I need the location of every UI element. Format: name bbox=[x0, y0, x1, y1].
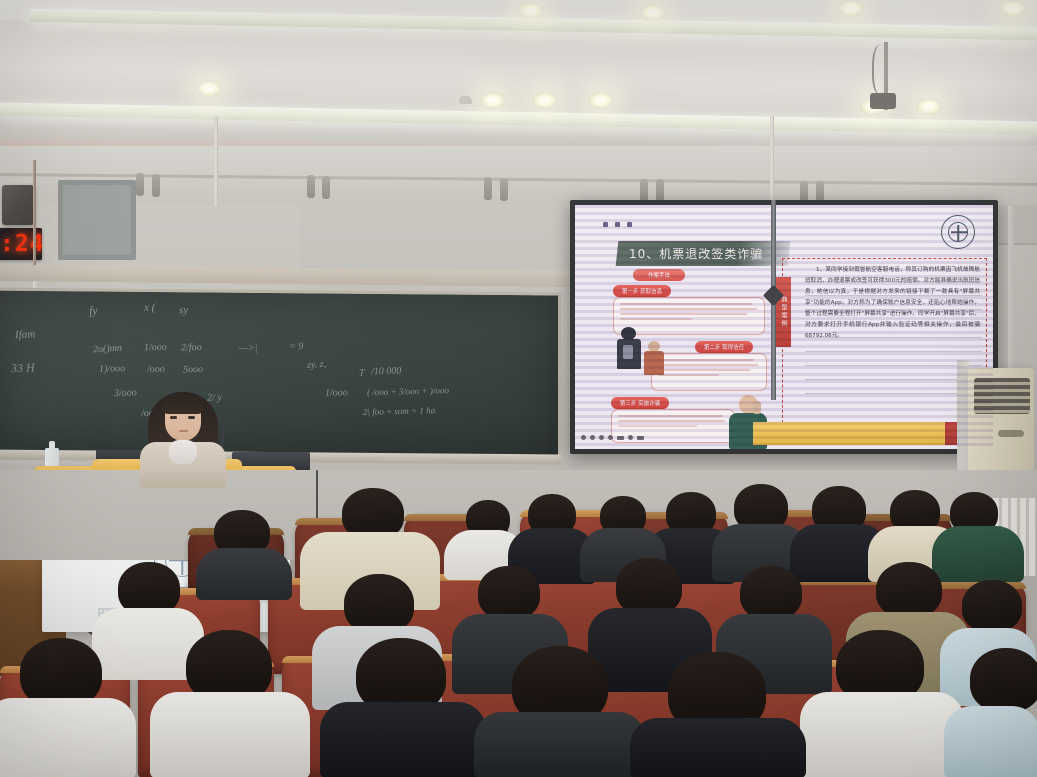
chalk-note-11: zy. z, bbox=[307, 359, 327, 371]
downlight-4 bbox=[588, 92, 614, 109]
downlight-9 bbox=[838, 0, 864, 17]
downlight-2 bbox=[480, 92, 506, 109]
pen-icon[interactable] bbox=[581, 435, 586, 440]
ac-control-knob[interactable] bbox=[998, 430, 1024, 437]
downlight-10 bbox=[1000, 0, 1026, 17]
slide-footer-yellow-bar bbox=[753, 422, 945, 445]
lecture-hall-photo: :24 Ifamfyx (sy33 H2o()mn1/ooo2/foo—>|= … bbox=[0, 0, 1037, 777]
lecturer-mouth bbox=[179, 430, 188, 432]
lecturer-fringe bbox=[162, 394, 204, 414]
case-study-tab-label: 典型案例 bbox=[776, 277, 791, 347]
arrow-icon[interactable] bbox=[637, 436, 644, 440]
chalk-note-1: Ifam bbox=[15, 328, 36, 341]
chalk-note-4: sy bbox=[179, 304, 189, 316]
lecturer bbox=[136, 386, 230, 476]
chalk-note-5: 33 H bbox=[11, 361, 35, 377]
university-seal-icon bbox=[941, 215, 975, 249]
victim-illustration-1 bbox=[643, 341, 667, 375]
chalk-note-18: ( /ooo + 3/ooo + )/ooo bbox=[367, 385, 449, 397]
chalk-note-10: = 9 bbox=[289, 341, 303, 352]
chalk-note-15: T bbox=[359, 368, 365, 379]
chalk-note-16: /10 000 bbox=[371, 366, 402, 378]
gear-icon[interactable] bbox=[590, 435, 595, 440]
slide-step-1-badge: 第一步 获取信息 bbox=[613, 285, 671, 297]
presentation-slide: 10、机票退改签类诈骗 作案手法 第一步 获取信息 第二步 取得信任 bbox=[575, 205, 993, 449]
chalk-note-13: /ooo bbox=[147, 364, 165, 375]
downlight-7 bbox=[518, 2, 544, 19]
slides-icon[interactable] bbox=[617, 436, 624, 440]
rail-hanger-5 bbox=[484, 177, 492, 200]
blackboard: Ifamfyx (sy33 H2o()mn1/ooo2/foo—>|= 9zy.… bbox=[0, 287, 561, 458]
audience-member-body bbox=[196, 548, 292, 600]
case-study-text: 1、某同学接到假冒航空客服电话，称其订购的机票因飞机故障航班取消，办理退票或改签… bbox=[805, 265, 980, 342]
audience-member-body bbox=[630, 718, 806, 777]
chalk-note-17: 1/ooo bbox=[325, 387, 348, 399]
audience-member-body bbox=[474, 712, 646, 777]
chalk-note-6: 2o()mn bbox=[93, 343, 123, 356]
cursor-icon[interactable] bbox=[608, 435, 613, 440]
slide-step-2-badge: 第二步 取得信任 bbox=[695, 341, 753, 353]
downlight-6 bbox=[916, 98, 942, 115]
chalk-note-20: 2| foo + som + 1 ha bbox=[363, 405, 435, 417]
audience-member-body bbox=[320, 702, 486, 777]
rail-hanger-1 bbox=[136, 173, 144, 196]
rail-hanger-8 bbox=[656, 179, 664, 202]
chalk-note-19: 3/ooo bbox=[114, 387, 137, 399]
audience-member-head bbox=[970, 648, 1037, 712]
wall-mounted-panel bbox=[58, 180, 136, 260]
downlight-1 bbox=[196, 80, 222, 97]
rail-hanger-3 bbox=[307, 175, 315, 198]
slide-title-text: 10、机票退改签类诈骗 bbox=[629, 245, 763, 262]
audience-area bbox=[0, 470, 1037, 777]
audience-member-head bbox=[740, 566, 802, 620]
projector-cable bbox=[872, 44, 894, 96]
audience-member-body bbox=[800, 692, 964, 777]
audience-member-head bbox=[478, 566, 540, 620]
audience-member-body bbox=[0, 698, 136, 777]
slide-step-2-box bbox=[651, 353, 767, 391]
slide-decor-dots bbox=[603, 222, 632, 227]
chalk-note-14: 5ooo bbox=[183, 364, 203, 376]
lecturer-eye-left bbox=[170, 416, 177, 419]
audience-member-body bbox=[932, 526, 1024, 582]
projection-screen-frame: 10、机票退改签类诈骗 作案手法 第一步 获取信息 第二步 取得信任 bbox=[570, 200, 998, 454]
scammer-illustration bbox=[615, 327, 643, 371]
audience-member-body bbox=[150, 692, 310, 777]
smoke-detector-icon bbox=[459, 96, 472, 104]
chalk-note-12: 1)/ooo bbox=[99, 363, 125, 375]
rail-hanger-4 bbox=[322, 176, 330, 199]
presentation-toolbar[interactable] bbox=[581, 435, 644, 440]
audience-member-head bbox=[344, 574, 414, 634]
downlight-8 bbox=[640, 4, 666, 21]
chalk-writing: Ifamfyx (sy33 H2o()mn1/ooo2/foo—>|= 9zy.… bbox=[0, 291, 558, 296]
audience-member-body bbox=[944, 706, 1037, 777]
slide-title-banner: 10、机票退改签类诈骗 bbox=[616, 241, 791, 266]
slide-section-label: 作案手法 bbox=[633, 269, 685, 281]
rail-hanger-6 bbox=[500, 178, 508, 201]
chalk-note-9: —>| bbox=[239, 343, 257, 354]
slide-step-3-badge: 第三步 实施诈骗 bbox=[611, 397, 669, 409]
chalk-note-7: 1/ooo bbox=[144, 342, 167, 354]
wall-conduit bbox=[33, 160, 36, 280]
audience-member-head bbox=[962, 580, 1022, 632]
chalk-note-2: fy bbox=[88, 303, 98, 319]
audience-member-head bbox=[876, 562, 942, 618]
lecturer-eye-right bbox=[188, 416, 195, 419]
ac-grille-icon bbox=[974, 378, 1030, 414]
ceiling bbox=[0, 0, 1037, 148]
projection-screen: 10、机票退改签类诈骗 作案手法 第一步 获取信息 第二步 取得信任 bbox=[575, 205, 993, 449]
lecturer-collar bbox=[169, 440, 197, 464]
downlight-3 bbox=[532, 92, 558, 109]
chalk-note-8: 2/foo bbox=[181, 342, 202, 354]
chalk-note-3: x ( bbox=[144, 302, 155, 314]
wall-speaker-icon bbox=[2, 185, 34, 225]
more-icon[interactable] bbox=[628, 435, 633, 440]
rail-hanger-7 bbox=[640, 179, 648, 202]
highlighter-icon[interactable] bbox=[599, 435, 604, 440]
rail-hanger-2 bbox=[152, 174, 160, 197]
projector-icon bbox=[870, 93, 896, 109]
